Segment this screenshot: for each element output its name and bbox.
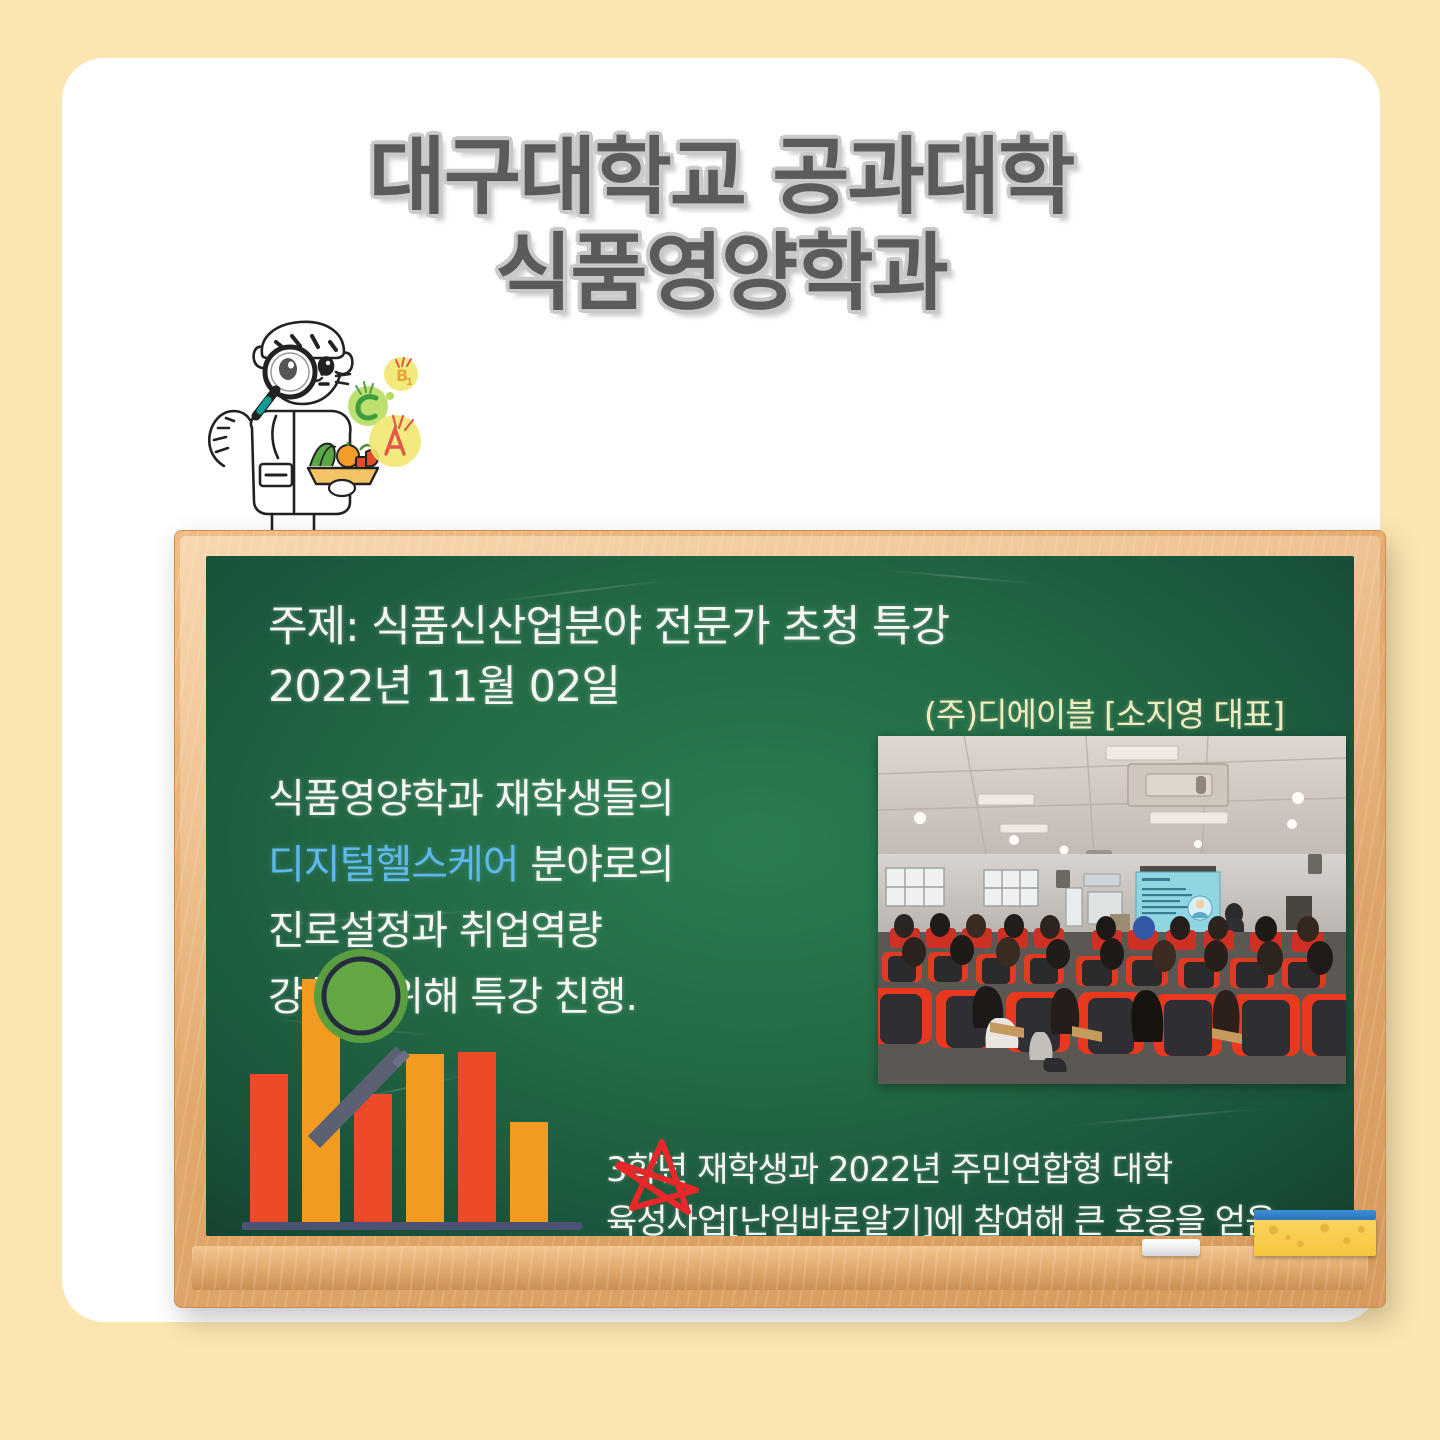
svg-text:1: 1 — [406, 377, 413, 388]
bar-chart-graphic — [240, 946, 600, 1236]
poster-card: 대구대학교 공과대학 식품영양학과 — [62, 58, 1380, 1322]
page-title: 대구대학교 공과대학 식품영양학과 — [62, 130, 1380, 322]
chalkboard-surface: 주제: 식품신산업분야 전문가 초청 특강 2022년 11월 02일 (주)디… — [206, 556, 1354, 1236]
note-line-2: 육성사업[난임바로알기]에 참여해 큰 호응을 얻음. — [606, 1196, 1346, 1236]
note-paragraph: 3학년 재학생과 2022년 주민연합형 대학 육성사업[난임바로알기]에 참여… — [606, 1144, 1346, 1236]
bar-6 — [510, 1122, 548, 1224]
lecture-date: 2022년 11월 02일 — [268, 652, 620, 714]
note-line-1: 3학년 재학생과 2022년 주민연합형 대학 — [606, 1144, 1346, 1196]
chalk-smudge — [1066, 1107, 1265, 1126]
title-line-1: 대구대학교 공과대학 — [62, 130, 1380, 226]
bar-3 — [354, 1094, 392, 1224]
chalk-smudge — [886, 569, 1036, 584]
body-line-1: 식품영양학과 재학생들의 — [268, 766, 868, 832]
title-line-2: 식품영양학과 — [62, 226, 1380, 322]
vitamin-bubbles: B 1 — [348, 357, 421, 467]
sponge-eraser-icon[interactable] — [1254, 1210, 1376, 1256]
sponge-body — [1254, 1218, 1376, 1256]
bar-4 — [406, 1054, 444, 1224]
tiger-mascot-icon: B 1 — [190, 316, 435, 551]
lecture-topic: 주제: 식품신산업분야 전문가 초청 특강 — [268, 592, 949, 654]
chart-baseline — [242, 1222, 582, 1230]
chalkboard: 주제: 식품신산업분야 전문가 초청 특강 2022년 11월 02일 (주)디… — [174, 530, 1386, 1308]
body-line-2: 디지털헬스케어 분야로의 — [268, 832, 868, 898]
sponge-top — [1254, 1210, 1376, 1220]
chalk-stick-icon[interactable] — [1142, 1239, 1200, 1256]
highlight-digital-healthcare: 디지털헬스케어 — [268, 842, 519, 888]
bar-1 — [250, 1074, 288, 1224]
body-line-2-rest: 분야로의 — [530, 842, 673, 888]
bar-5 — [458, 1052, 496, 1224]
speaker-caption: (주)디에이블 [소지영 대표] — [924, 688, 1284, 736]
lecture-photo — [878, 736, 1346, 1084]
magnifier-icon — [314, 949, 408, 1043]
